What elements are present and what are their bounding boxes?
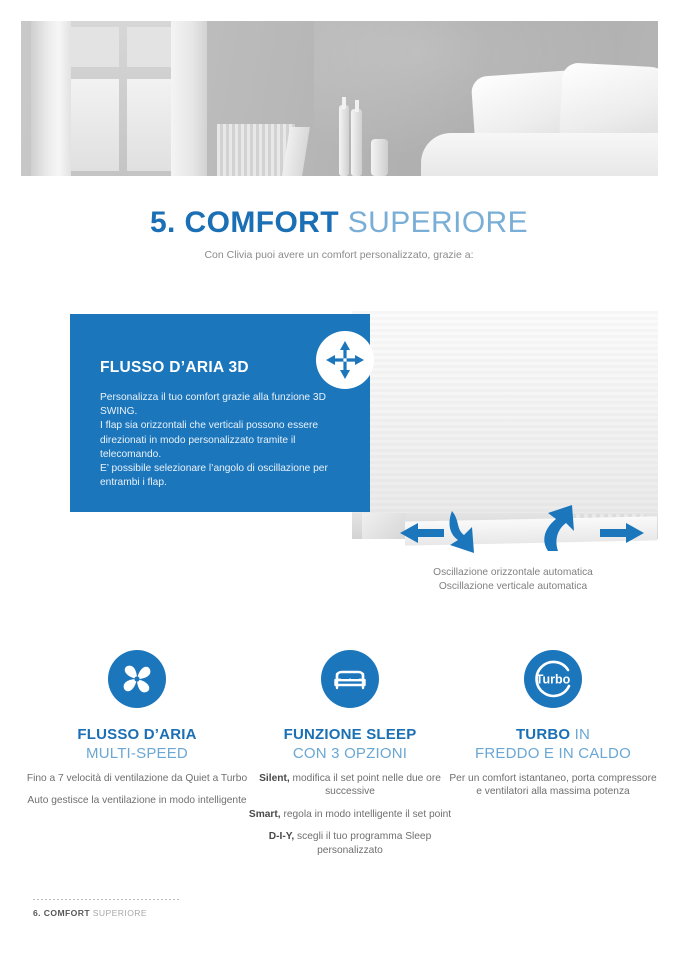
paragraph-keyword: Smart,	[249, 809, 281, 820]
caption-line-1: Oscillazione orizzontale automatica	[348, 566, 678, 580]
caption-line-2: Oscillazione verticale automatica	[348, 580, 678, 594]
column-body: Silent, modifica il set point nelle due …	[245, 772, 455, 857]
arrow-left-icon	[400, 523, 444, 543]
arrow-right-icon	[600, 523, 644, 543]
panel-heading: FLUSSO D’ARIA 3D	[100, 359, 249, 377]
page: 5. COMFORT SUPERIORE Con Clivia puoi ave…	[0, 0, 678, 959]
column-heading-bold: FUNZIONE SLEEP	[245, 726, 455, 744]
feature-columns: FLUSSO D’ARIA MULTI-SPEED Fino a 7 veloc…	[0, 650, 678, 860]
hero-curtain-right	[171, 21, 207, 176]
hero-bedroom-photo	[21, 21, 658, 176]
column-body: Per un comfort istantaneo, porta compres…	[448, 772, 658, 799]
column-paragraph: Smart, regola in modo intelligente il se…	[245, 808, 455, 821]
hero-bottle	[339, 105, 349, 176]
hero-curtain-left	[31, 21, 71, 176]
footer-divider	[33, 899, 181, 900]
page-title-light: SUPERIORE	[348, 206, 528, 239]
paragraph-keyword: D-I-Y,	[269, 831, 294, 842]
arrow-curved-down-icon	[450, 511, 474, 553]
feature-column-airflow: FLUSSO D’ARIA MULTI-SPEED Fino a 7 veloc…	[22, 650, 252, 808]
footer-bold: 6. COMFORT	[33, 908, 90, 918]
paragraph-keyword: Silent,	[259, 773, 290, 784]
feature-column-sleep: FUNZIONE SLEEP CON 3 OPZIONI Silent, mod…	[245, 650, 455, 857]
column-heading-bold: FLUSSO D’ARIA	[22, 726, 252, 744]
column-heading-light: FREDDO E IN CALDO	[448, 744, 658, 763]
hero-pillow	[559, 62, 658, 144]
turbo-icon-label: Turbo	[536, 673, 571, 687]
arrow-curved-up-icon	[544, 505, 574, 551]
panel-body-text: Personalizza il tuo comfort grazie alla …	[100, 391, 350, 490]
column-heading-bold: TURBO IN	[448, 726, 658, 744]
column-body: Fino a 7 velocità di ventilazione da Qui…	[22, 772, 252, 808]
column-heading-light: MULTI-SPEED	[22, 744, 252, 763]
column-heading-light: CON 3 OPZIONI	[245, 744, 455, 763]
column-paragraph: Fino a 7 velocità di ventilazione da Qui…	[22, 772, 252, 785]
four-direction-arrows-icon	[316, 331, 374, 389]
bed-icon	[321, 650, 379, 708]
hero-bottle	[351, 109, 362, 176]
air-conditioner-image	[352, 311, 658, 517]
hero-bed	[421, 133, 658, 176]
column-paragraph: D-I-Y, scegli il tuo programma Sleep per…	[245, 830, 455, 857]
footer-label: 6. COMFORT SUPERIORE	[33, 908, 147, 918]
unit-slats	[352, 311, 658, 517]
page-subtitle: Con Clivia puoi avere un comfort persona…	[0, 249, 678, 261]
column-paragraph: Per un comfort istantaneo, porta compres…	[448, 772, 658, 799]
airflow-arrows	[352, 495, 658, 555]
oscillation-caption: Oscillazione orizzontale automatica Osci…	[348, 566, 678, 593]
hero-jar	[371, 139, 388, 176]
fan-icon	[108, 650, 166, 708]
turbo-icon: Turbo	[524, 650, 582, 708]
page-title-bold: 5. COMFORT	[150, 206, 339, 239]
feature-column-turbo: Turbo TURBO IN FREDDO E IN CALDO Per un …	[448, 650, 658, 799]
footer-light: SUPERIORE	[93, 908, 147, 918]
page-title: 5. COMFORT SUPERIORE	[0, 206, 678, 240]
column-paragraph: Auto gestisce la ventilazione in modo in…	[22, 794, 252, 807]
column-paragraph: Silent, modifica il set point nelle due …	[245, 772, 455, 799]
